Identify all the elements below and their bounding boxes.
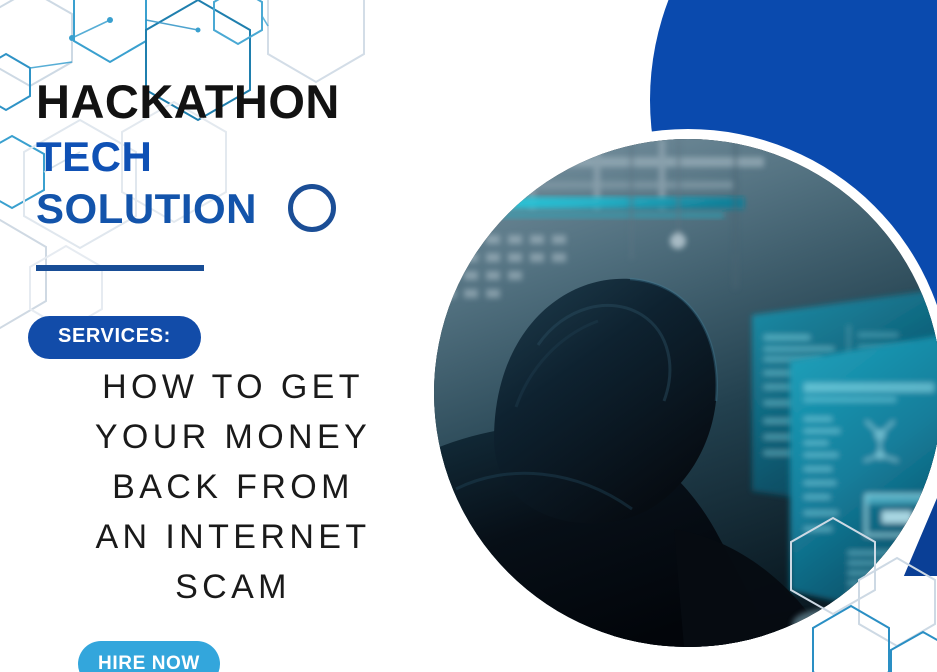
hire-now-button[interactable]: HIRE NOW (78, 641, 220, 672)
services-badge: SERVICES: (28, 316, 201, 359)
headline-line: SCAM (52, 562, 414, 612)
poster-canvas: HACKATHON TECH SOLUTION SERVICES: HOW TO… (0, 0, 937, 672)
headline-line: HOW TO GET (52, 362, 414, 412)
brand-title-tech: TECH (36, 134, 436, 179)
brand-block: HACKATHON TECH SOLUTION (36, 78, 436, 232)
hacker-photo (434, 139, 937, 647)
headline-line: YOUR MONEY (52, 412, 414, 462)
brand-title-solution: SOLUTION (36, 186, 257, 231)
headline-line: BACK FROM (52, 462, 414, 512)
headline-line: AN INTERNET (52, 512, 414, 562)
hacker-photo-illustration (434, 139, 937, 647)
circle-outline-icon (288, 184, 336, 232)
divider-rule (36, 265, 204, 271)
brand-title-solution-row: SOLUTION (36, 184, 436, 232)
brand-title-hackathon: HACKATHON (36, 78, 436, 125)
headline: HOW TO GET YOUR MONEY BACK FROM AN INTER… (52, 362, 414, 612)
